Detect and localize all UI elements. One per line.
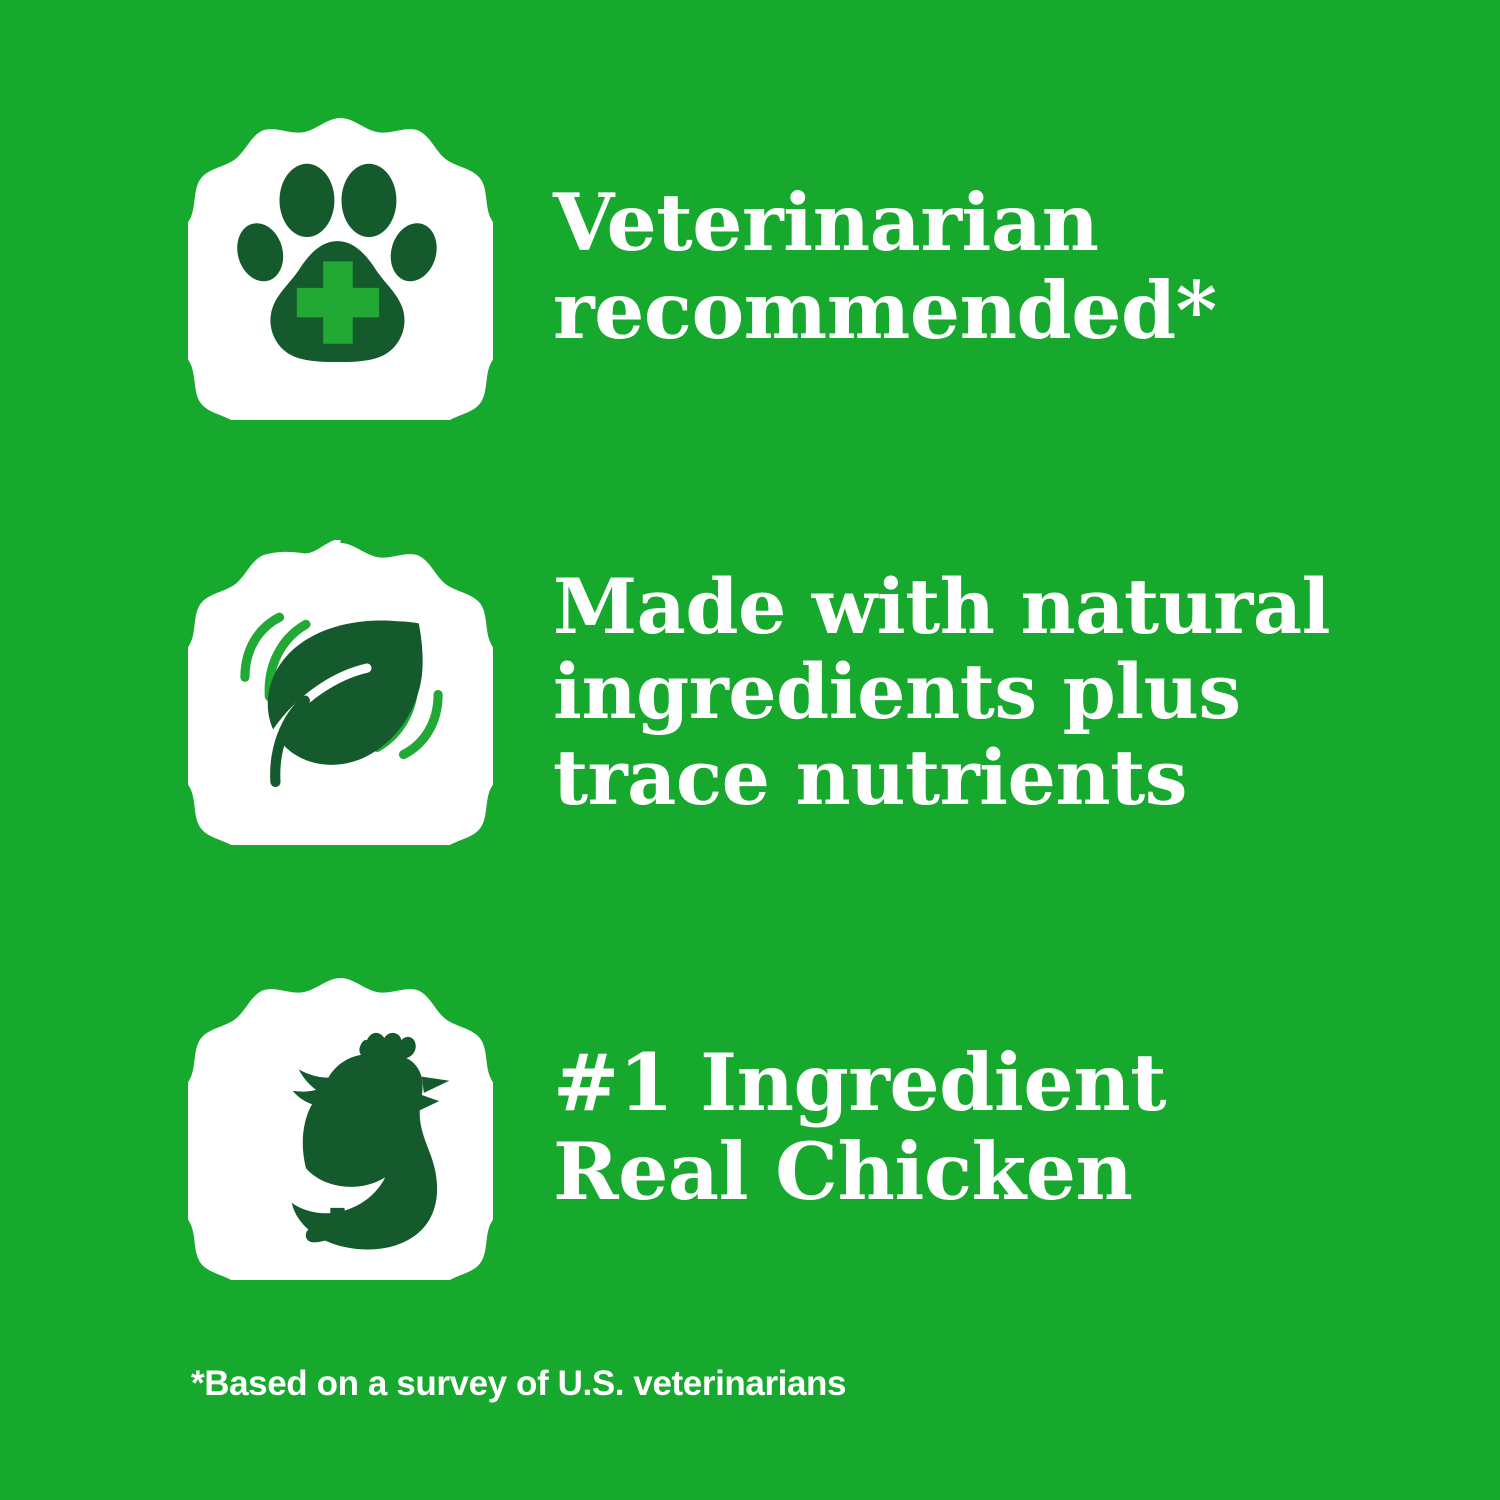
infographic-panel: Veterinarian recommended* [0, 0, 1500, 1500]
leaf-with-motion-lines-icon [188, 540, 493, 845]
footnote-disclaimer: *Based on a survey of U.S. veterinarians [191, 1364, 846, 1404]
feature-label-natural-ingredients: Made with natural ingredients plus trace… [553, 564, 1330, 819]
feature-label-veterinarian: Veterinarian recommended* [553, 179, 1217, 354]
chicken-icon [188, 975, 493, 1280]
badge-real-chicken [188, 975, 493, 1280]
badge-natural-ingredients [188, 540, 493, 845]
paw-with-medical-cross-icon [188, 115, 493, 420]
feature-row-natural-ingredients: Made with natural ingredients plus trace… [0, 537, 1500, 847]
feature-row-veterinarian: Veterinarian recommended* [0, 112, 1500, 422]
feature-label-real-chicken: #1 Ingredient Real Chicken [553, 1038, 1166, 1217]
badge-veterinarian [188, 115, 493, 420]
feature-row-real-chicken: #1 Ingredient Real Chicken [0, 972, 1500, 1282]
